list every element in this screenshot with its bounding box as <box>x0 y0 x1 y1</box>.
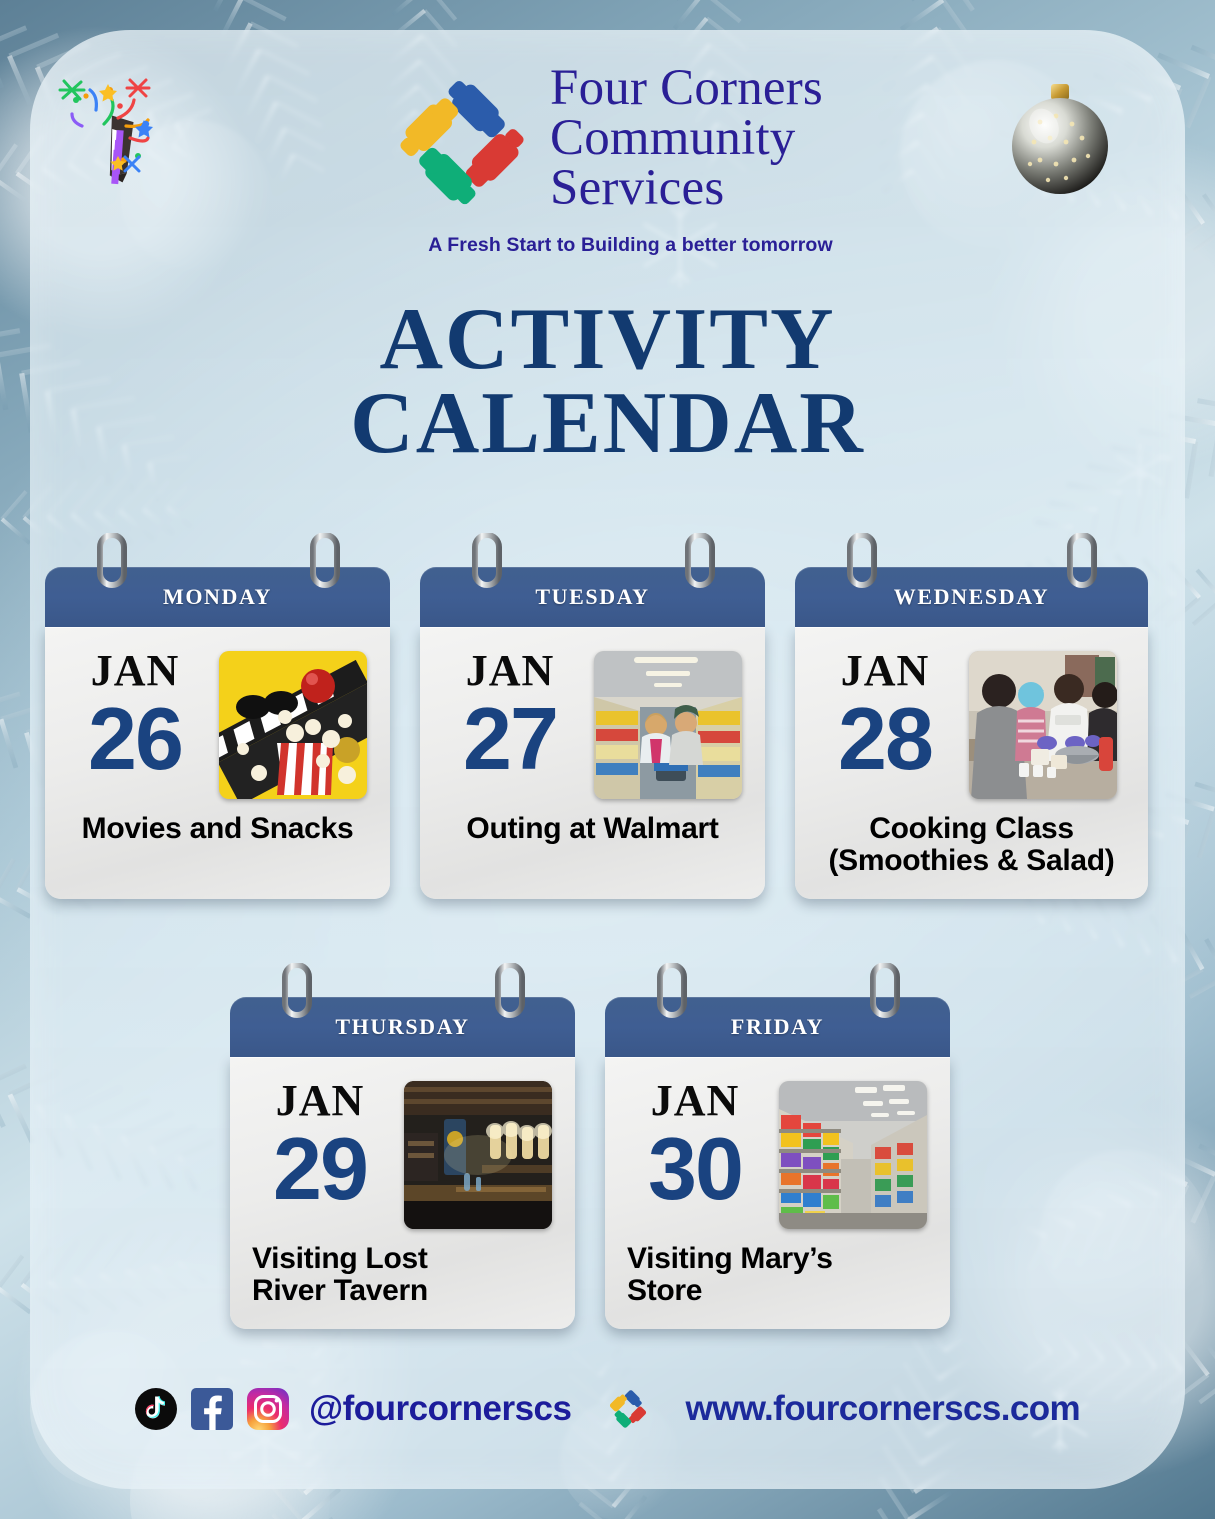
brand-tagline: A Fresh Start to Building a better tomor… <box>46 234 1215 257</box>
activity-label: Visiting Lost River Tavern <box>244 1243 561 1306</box>
calendar-card-friday[interactable]: FRIDAY JAN 30 <box>605 963 950 1329</box>
calendar-card-thursday[interactable]: THURSDAY JAN 29 <box>230 963 575 1329</box>
day-label: TUESDAY <box>535 584 649 610</box>
marys-store-photo <box>779 1081 927 1229</box>
card-body-wednesday: JAN 28 <box>795 627 1148 899</box>
tiktok-icon[interactable] <box>135 1388 177 1430</box>
four-hands-logo-small <box>607 1388 649 1430</box>
day-label: MONDAY <box>163 584 272 610</box>
instagram-icon[interactable] <box>247 1388 289 1430</box>
activity-line: Movies and Snacks <box>59 813 376 845</box>
brand-line-3: Services <box>550 164 823 214</box>
activity-label: Movies and Snacks <box>59 813 376 845</box>
card-body-tuesday: JAN 27 <box>420 627 765 899</box>
card-header-thursday: THURSDAY <box>230 997 575 1057</box>
footer-social-bar: @fourcornerscs www.fourcornerscs.com <box>0 1388 1215 1430</box>
activity-label: Outing at Walmart <box>434 813 751 845</box>
card-body-friday: JAN 30 <box>605 1057 950 1329</box>
month-label: JAN <box>434 649 586 693</box>
month-label: JAN <box>809 649 961 693</box>
movies-and-snacks-photo <box>219 651 367 799</box>
date-number: 29 <box>244 1125 396 1213</box>
activity-line: Visiting Lost <box>252 1243 561 1275</box>
month-label: JAN <box>59 649 211 693</box>
website-url[interactable]: www.fourcornerscs.com <box>685 1389 1080 1429</box>
social-handle[interactable]: @fourcornerscs <box>309 1389 572 1429</box>
brand-line-1: Four Corners <box>550 64 823 114</box>
date-number: 27 <box>434 695 586 783</box>
calendar-card-wednesday[interactable]: WEDNESDAY JAN 28 <box>795 533 1148 899</box>
calendar-card-tuesday[interactable]: TUESDAY JAN 27 <box>420 533 765 899</box>
day-label: FRIDAY <box>731 1014 824 1040</box>
date-block: JAN 26 <box>59 643 211 783</box>
facebook-icon[interactable] <box>191 1388 233 1430</box>
title-line-1: ACTIVITY <box>379 291 835 388</box>
page-title: ACTIVITY CALENDAR <box>0 298 1215 465</box>
calendar-card-monday[interactable]: MONDAY JAN 26 <box>45 533 390 899</box>
day-label: THURSDAY <box>335 1014 469 1040</box>
card-header-friday: FRIDAY <box>605 997 950 1057</box>
date-block: JAN 30 <box>619 1073 771 1213</box>
activity-line: Store <box>627 1275 936 1307</box>
lost-river-tavern-photo <box>404 1081 552 1229</box>
date-number: 26 <box>59 695 211 783</box>
brand-header: Four Corners Community Services A Fresh … <box>0 58 1215 257</box>
outing-at-walmart-photo <box>594 651 742 799</box>
month-label: JAN <box>244 1079 396 1123</box>
card-header-wednesday: WEDNESDAY <box>795 567 1148 627</box>
calendar-row-1: MONDAY JAN 26 <box>45 533 1148 899</box>
month-label: JAN <box>619 1079 771 1123</box>
day-label: WEDNESDAY <box>894 584 1049 610</box>
date-block: JAN 27 <box>434 643 586 783</box>
four-hands-logo <box>392 72 532 222</box>
calendar-row-2: THURSDAY JAN 29 <box>230 963 950 1329</box>
card-header-tuesday: TUESDAY <box>420 567 765 627</box>
card-body-monday: JAN 26 <box>45 627 390 899</box>
brand-line-2: Community <box>550 114 823 164</box>
date-block: JAN 28 <box>809 643 961 783</box>
card-header-monday: MONDAY <box>45 567 390 627</box>
activity-line: Outing at Walmart <box>434 813 751 845</box>
brand-name: Four Corners Community Services <box>550 58 823 214</box>
date-number: 28 <box>809 695 961 783</box>
card-body-thursday: JAN 29 <box>230 1057 575 1329</box>
activity-line: Visiting Mary’s <box>627 1243 936 1275</box>
cooking-class-photo <box>969 651 1117 799</box>
date-block: JAN 29 <box>244 1073 396 1213</box>
activity-line: Cooking Class <box>809 813 1134 845</box>
activity-label: Cooking Class (Smoothies & Salad) <box>809 813 1134 876</box>
date-number: 30 <box>619 1125 771 1213</box>
activity-line: River Tavern <box>252 1275 561 1307</box>
activity-line: (Smoothies & Salad) <box>809 845 1134 877</box>
activity-label: Visiting Mary’s Store <box>619 1243 936 1306</box>
title-line-2: CALENDAR <box>0 382 1215 466</box>
